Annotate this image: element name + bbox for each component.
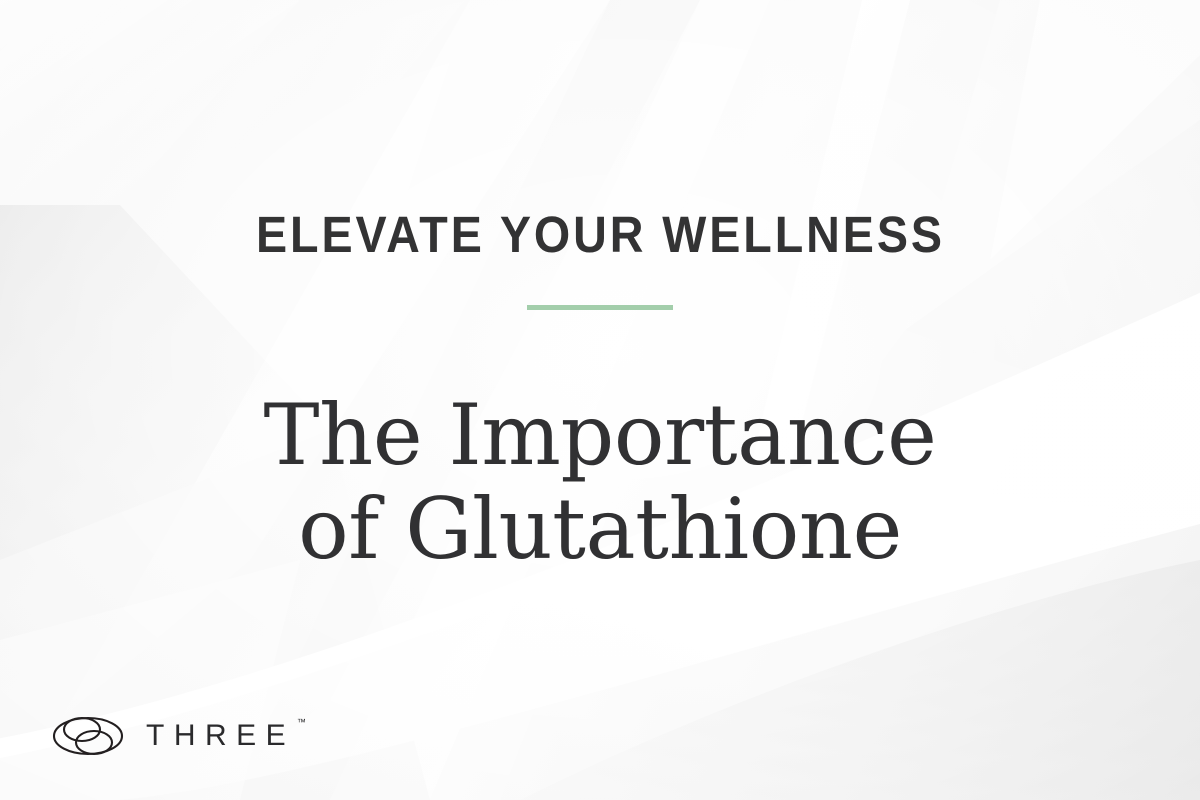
accent-rule: [527, 305, 673, 310]
eyebrow-container: ELEVATE YOUR WELLNESS: [0, 206, 1200, 263]
headline-line-1: The Importance: [0, 388, 1200, 482]
page-title: The Importance of Glutathione: [0, 388, 1200, 576]
brand-wordmark: THREE ™: [146, 721, 295, 751]
headline-line-2: of Glutathione: [0, 482, 1200, 576]
brand-logo-lockup[interactable]: THREE ™: [52, 710, 295, 762]
poster-canvas: ELEVATE YOUR WELLNESS The Importance of …: [0, 0, 1200, 800]
eyebrow-text: ELEVATE YOUR WELLNESS: [256, 206, 945, 263]
brand-wordmark-text: THREE: [146, 719, 295, 752]
headline-container: The Importance of Glutathione: [0, 332, 1200, 633]
trademark-symbol: ™: [297, 718, 306, 727]
divider-container: [0, 297, 1200, 315]
three-interlocking-ellipses-icon: [52, 710, 124, 762]
